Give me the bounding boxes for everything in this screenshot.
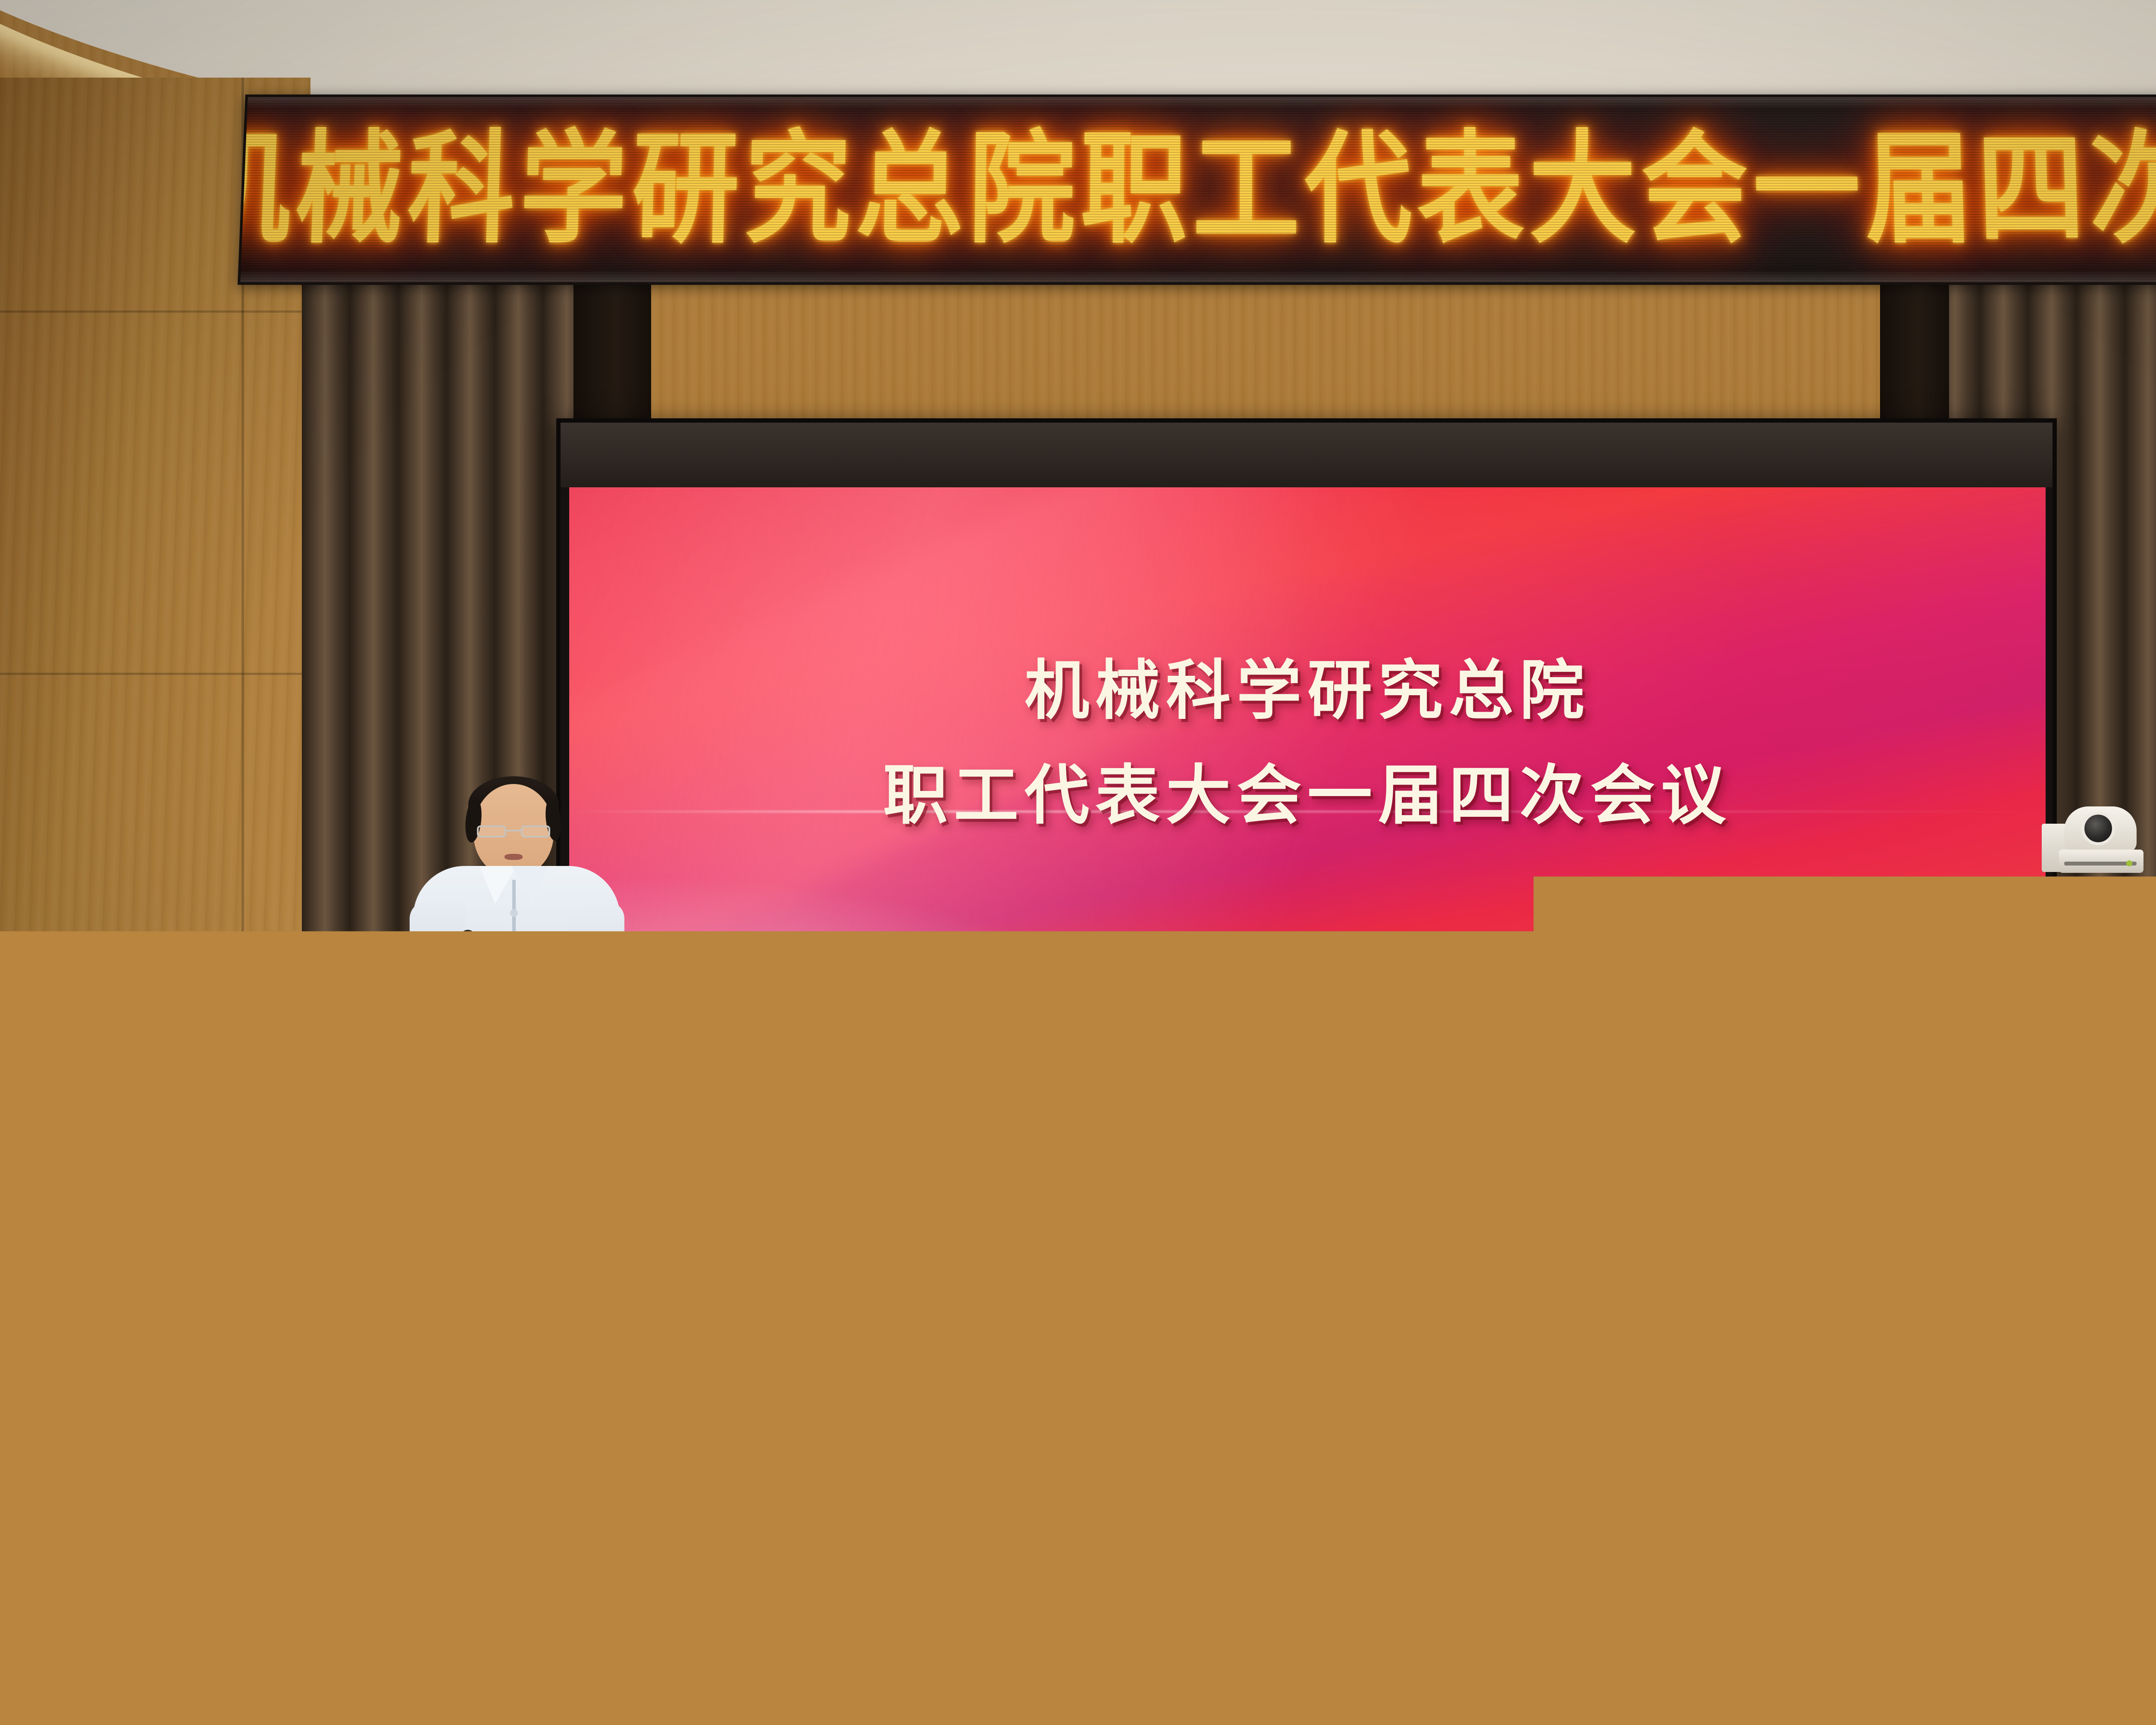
- conference-table: [0, 1665, 1069, 1725]
- wall-panel-seam: [0, 673, 328, 675]
- slide-title-line-2: 职工代表大会一届四次会议: [569, 743, 2046, 848]
- name-plate-header: 机械科学研究总院: [133, 1221, 221, 1231]
- conference-table-edge: [0, 1552, 638, 1570]
- conference-table-edge: [1867, 1596, 2156, 1614]
- name-plate-name: 生: [222, 1443, 373, 1497]
- speech-paper: [508, 956, 652, 1039]
- water-bottle-icon: [254, 1410, 298, 1548]
- name-plate: 机械科学研究总院 生: [216, 1419, 379, 1512]
- slide-title: 机械科学研究总院 职工代表大会一届四次会议: [569, 639, 2046, 848]
- conference-table: [569, 1522, 1104, 1587]
- led-banner-text: 机械科学研究总院职工代表大会一届四次会议: [238, 129, 2156, 250]
- name-plate-header: 机械科学研究总院: [222, 1433, 373, 1443]
- conference-table: [1867, 1535, 2156, 1600]
- speaker-eyeglasses-icon: [477, 825, 550, 838]
- name-plate-org: 机械科学研究总院: [148, 1222, 204, 1230]
- paper-documents: [185, 1557, 298, 1596]
- projection-screen-valance: [561, 423, 2053, 487]
- conference-hall-photo: 机械科学研究总院职工代表大会一届四次会议 机械科学研究总院 职工代表大会一届四次…: [0, 0, 2156, 1725]
- slide-title-line-1: 机械科学研究总院: [569, 639, 2046, 743]
- wall-panel-seam: [0, 310, 328, 313]
- conference-table: [1777, 1673, 2156, 1725]
- logo-name-cn: 机械科学研究总院: [714, 1110, 1093, 1148]
- led-banner: 机械科学研究总院职工代表大会一届四次会议: [238, 94, 2156, 285]
- triangle-logo-icon: [222, 1433, 235, 1443]
- conference-table-edge: [569, 1583, 1104, 1601]
